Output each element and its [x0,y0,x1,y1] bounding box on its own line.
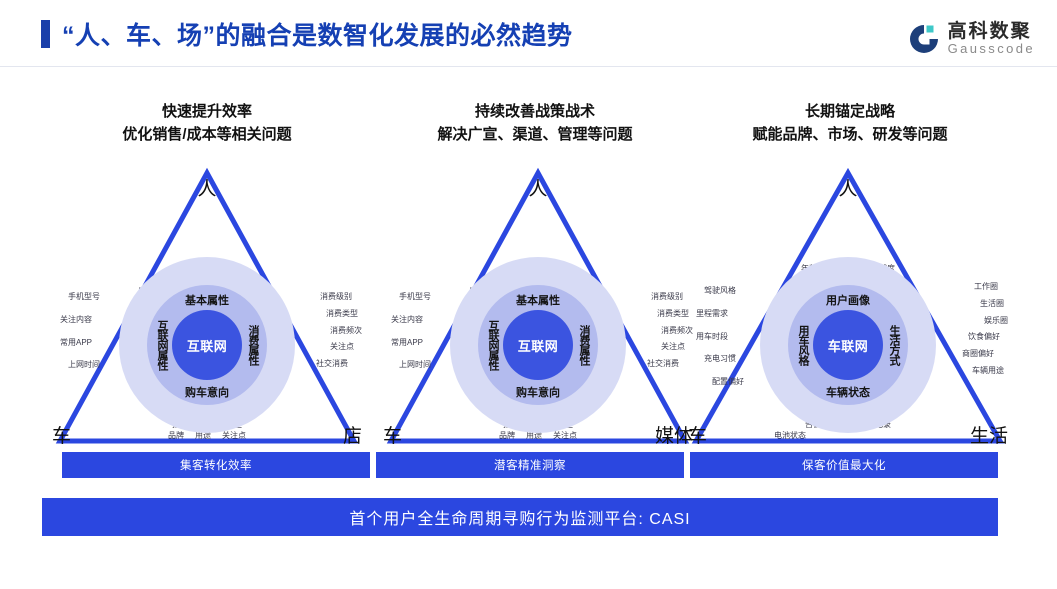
vertex-top-2: 人 [528,174,547,201]
core-label: 互联网 [187,336,228,355]
slide-header: “人、车、场”的融合是数智化发展的必然趋势 高科数聚 Gausscode [0,0,1057,66]
tag: 工作圈 [962,283,998,292]
vertex-left-3: 车 [688,421,707,448]
ring-label-top: 基本属性 [185,292,229,308]
tag-cluster-left-2: 手机型号 关注内容 常用APP 上网时间 [389,293,431,384]
header-divider [0,66,1057,67]
result-bar-1: 集客转化效率 [62,452,370,478]
triangle-panel-3: 人 车 生活 年龄 性别 品牌忠诚度 职业 居住地 资产等级 驾驶风格 里程需求… [688,165,1008,450]
tag: 手机型号 [68,293,100,302]
tag: 里程需求 [696,310,744,319]
tag: 关注内容 [391,316,431,325]
vertex-left-1: 车 [52,421,71,448]
column-heading-1-line1: 快速提升效率 [52,100,362,123]
ring-label-left: 互联网属性 [154,320,170,370]
tag: 关注点 [647,343,685,352]
tag: 消费级别 [316,293,352,302]
tag: 上网时间 [68,361,100,370]
ring-label-top: 基本属性 [516,292,560,308]
concentric-circles-1: 互联网属性 基本属性 购车意向 互联网属性 消费属性 互联网 [119,257,295,433]
tag: 消费级别 [647,293,683,302]
vertex-top-3: 人 [838,174,857,201]
tag: 生活圈 [962,300,1004,309]
ring-label-left: 用车风格 [795,325,811,365]
tag: 充电习惯 [704,355,744,364]
logo-name-cn: 高科数聚 [948,22,1035,42]
ring-label-left: 互联网属性 [485,320,501,370]
tag: 社交消费 [647,360,679,369]
tag-cluster-left-1: 手机型号 关注内容 常用APP 上网时间 [58,293,100,384]
tag: 商圈偏好 [962,350,994,359]
slide-root: “人、车、场”的融合是数智化发展的必然趋势 高科数聚 Gausscode 快速提… [0,0,1057,589]
vertex-right-1: 店 [343,421,362,448]
tag-cluster-right-3: 工作圈 生活圈 娱乐圈 饮食偏好 商圈偏好 车辆用途 [962,283,1004,384]
vertex-left-2: 车 [383,421,402,448]
concentric-circles-3: 互联网属性 用户画像 车辆状态 用车风格 生活方式 车联网 [760,257,936,433]
tag: 车辆用途 [962,367,1004,376]
column-heading-2: 持续改善战策战术 解决广宣、渠道、管理等问题 [375,100,695,147]
result-bar-2: 潜客精准洞察 [376,452,684,478]
tag-cluster-right-1: 消费级别 消费类型 消费频次 关注点 社交消费 [316,293,358,377]
tag: 娱乐圈 [962,317,1008,326]
core-circle-1: 互联网 [172,310,242,380]
column-heading-3: 长期锚定战略 赋能品牌、市场、研发等问题 [690,100,1010,147]
result-bar-3: 保客价值最大化 [690,452,998,478]
column-heading-2-line1: 持续改善战策战术 [375,100,695,123]
core-circle-2: 互联网 [503,310,573,380]
tag: 饮食偏好 [962,333,1000,342]
core-circle-3: 车联网 [813,310,883,380]
ring-label-right: 消费属性 [576,325,592,365]
tag: 关注点 [316,343,354,352]
tag: 关注内容 [60,316,100,325]
vertex-right-3: 生活 [970,421,1008,448]
tag: 消费类型 [647,310,689,319]
tag-cluster-right-2: 消费级别 消费类型 消费频次 关注点 社交消费 [647,293,689,377]
column-heading-1-line2: 优化销售/成本等相关问题 [52,123,362,146]
tag: 上网时间 [399,361,431,370]
logo-name-en: Gausscode [948,42,1035,57]
ring-label-bottom: 购车意向 [185,384,229,400]
concentric-circles-2: 互联网属性 基本属性 购车意向 互联网属性 消费属性 互联网 [450,257,626,433]
vertex-top-1: 人 [197,174,216,201]
tag-cluster-left-3: 驾驶风格 里程需求 用车时段 充电习惯 配置偏好 [694,287,744,401]
ring-label-top: 用户画像 [826,292,870,308]
ring-label-bottom: 车辆状态 [826,384,870,400]
gausscode-logo-icon [907,22,941,56]
tag: 配置偏好 [712,378,744,387]
column-heading-2-line2: 解决广宣、渠道、管理等问题 [375,123,695,146]
triangle-panel-2: 人 车 媒体 性别 婚姻 收入 年龄 职业 家庭 居住地 手机型号 关注内容 常… [383,165,693,450]
column-heading-3-line2: 赋能品牌、市场、研发等问题 [690,123,1010,146]
column-heading-1: 快速提升效率 优化销售/成本等相关问题 [52,100,362,147]
brand-logo: 高科数聚 Gausscode [907,18,1035,60]
column-heading-3-line1: 长期锚定战略 [690,100,1010,123]
tag: 常用APP [60,339,100,348]
ring-label-bottom: 购车意向 [516,384,560,400]
tag: 消费频次 [647,327,693,336]
tag: 常用APP [391,339,431,348]
platform-banner: 首个用户全生命周期寻购行为监测平台: CASI [42,498,998,536]
tag: 手机型号 [399,293,431,302]
tag: 社交消费 [316,360,348,369]
title-accent-bar [41,20,50,48]
core-label: 互联网 [518,336,559,355]
tag: 消费类型 [316,310,358,319]
tag: 用车时段 [696,333,744,342]
core-label: 车联网 [828,336,869,355]
tag: 消费频次 [316,327,362,336]
ring-label-right: 消费属性 [245,325,261,365]
ring-label-right: 生活方式 [886,325,902,365]
page-title: “人、车、场”的融合是数智化发展的必然趋势 [62,16,573,52]
triangle-panel-1: 人 车 店 性别 婚姻 收入 年龄 职业 家庭 居住地 手机型号 关注内容 常用… [52,165,362,450]
tag: 驾驶风格 [704,287,744,296]
